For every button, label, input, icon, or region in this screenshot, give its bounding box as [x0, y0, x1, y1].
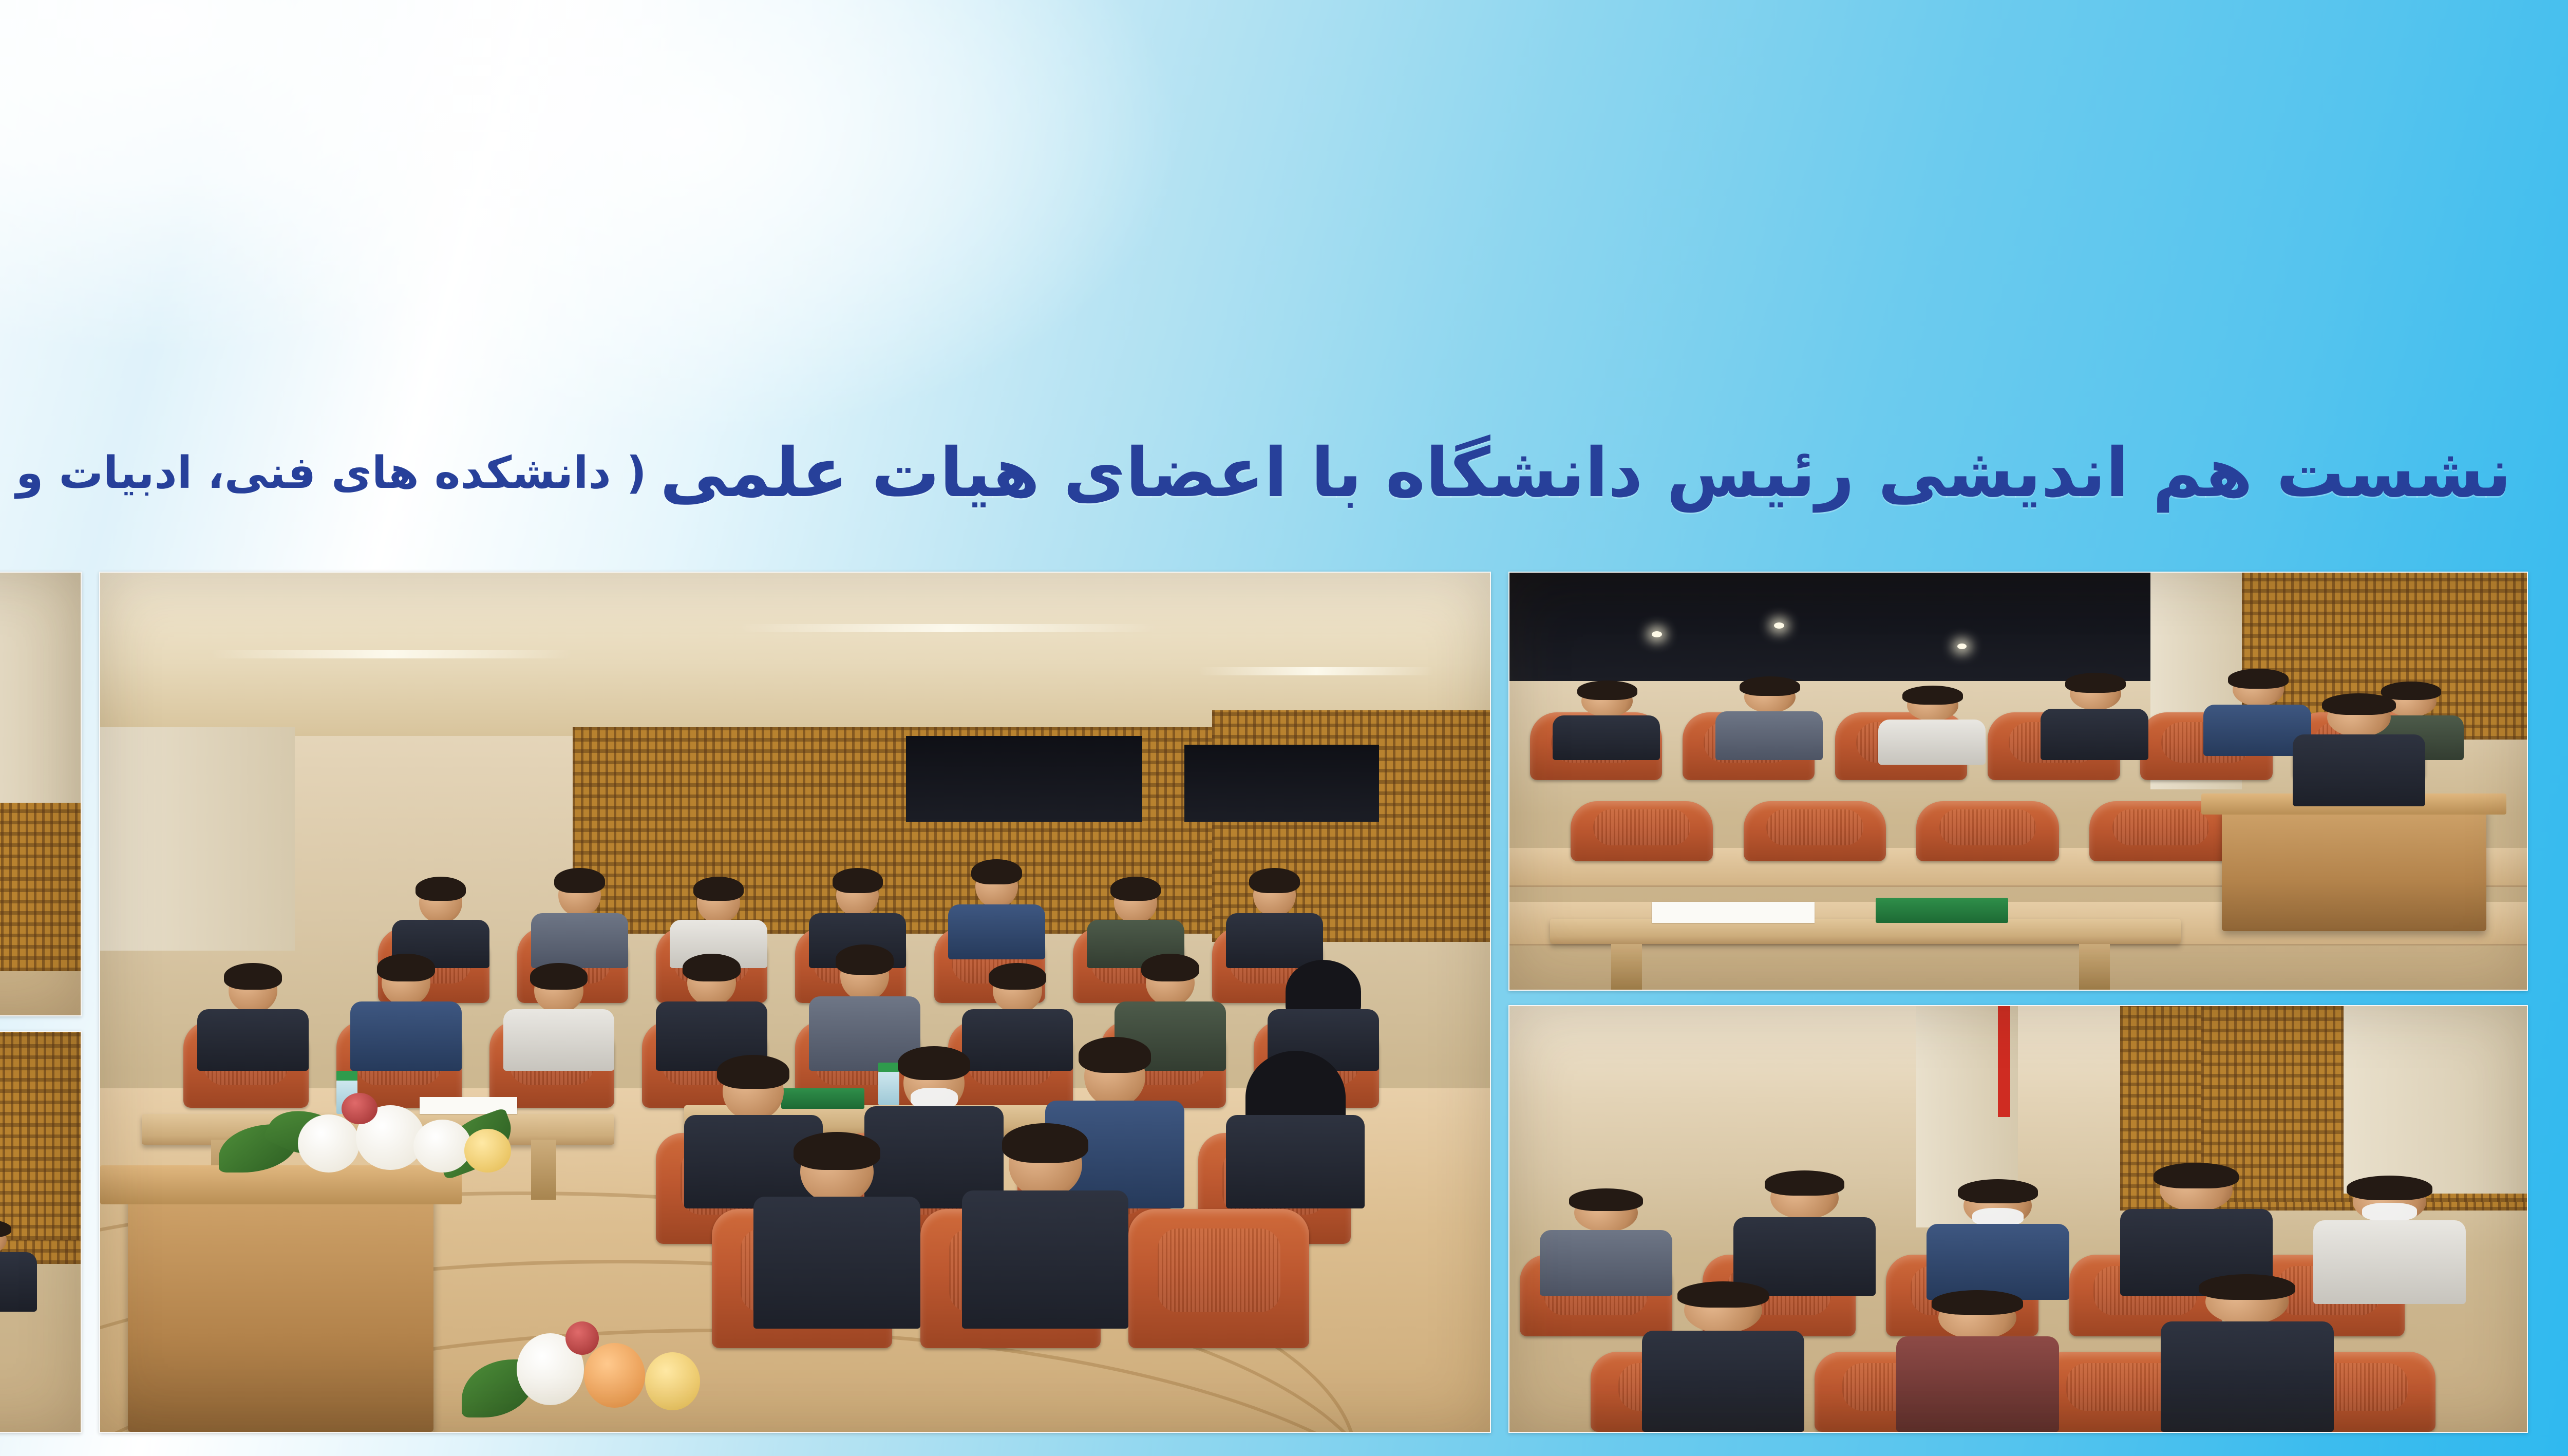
event-banner: دانشگاه گیلان روابط عمومی دانشگاه گیلان … [0, 0, 2568, 1456]
photo-audience-left-lower [0, 1031, 82, 1433]
photo-audience-right-upper [1508, 572, 2528, 991]
photo-hall-wide [99, 572, 1491, 1433]
photo-column-left: ✿ ✿ [0, 572, 82, 1433]
banner-title-row: نشست هم اندیشی رئیس دانشگاه با اعضای هیا… [0, 414, 2512, 532]
photo-grid: ✿ ✿ [0, 572, 2528, 1433]
photo-column-right [1508, 572, 2528, 1433]
photo-audience-right-lower [1508, 1005, 2528, 1433]
banner-title-main: نشست هم اندیشی رئیس دانشگاه با اعضای هیا… [660, 439, 2512, 507]
photo-column-center [99, 572, 1491, 1433]
photo-speaker-podium: ✿ ✿ [0, 572, 82, 1016]
banner-title-sub: ( دانشکده های فنی، ادبیات و علوم انسانی،… [0, 451, 647, 495]
